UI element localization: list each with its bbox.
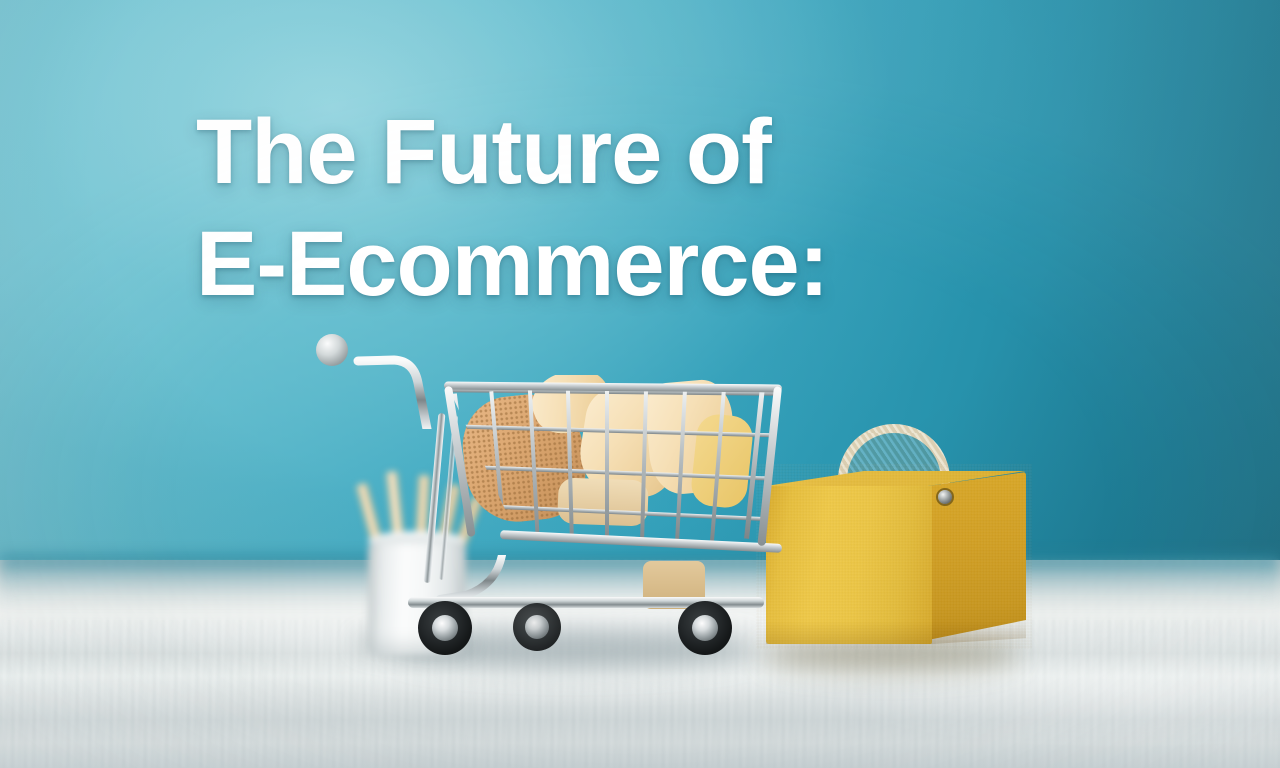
cart-handle-cap (316, 334, 348, 366)
basket-wire-h (482, 504, 782, 522)
cart-wheel-hub (525, 615, 549, 639)
page-title: The Future of E-Ecommerce: (196, 96, 1096, 320)
cart-basket (440, 387, 780, 567)
headline-line-2: E-Ecommerce: (196, 208, 1096, 320)
rope-grommet (938, 490, 952, 504)
basket-wire-v (640, 387, 648, 547)
basket-wire-h (466, 465, 782, 481)
basket-wire-h (452, 424, 782, 437)
basket-wire-v (566, 388, 574, 548)
basket-wire-v (605, 387, 609, 548)
cart-wheel-hub (432, 615, 458, 641)
headline-line-1: The Future of (196, 96, 1096, 208)
cart-wheel-hub (692, 615, 718, 641)
hero-image: The Future of E-Ecommerce: (0, 0, 1280, 768)
basket-wire-v (675, 387, 687, 545)
box-bottom-shading (766, 620, 1026, 646)
shopping-cart (300, 325, 800, 670)
